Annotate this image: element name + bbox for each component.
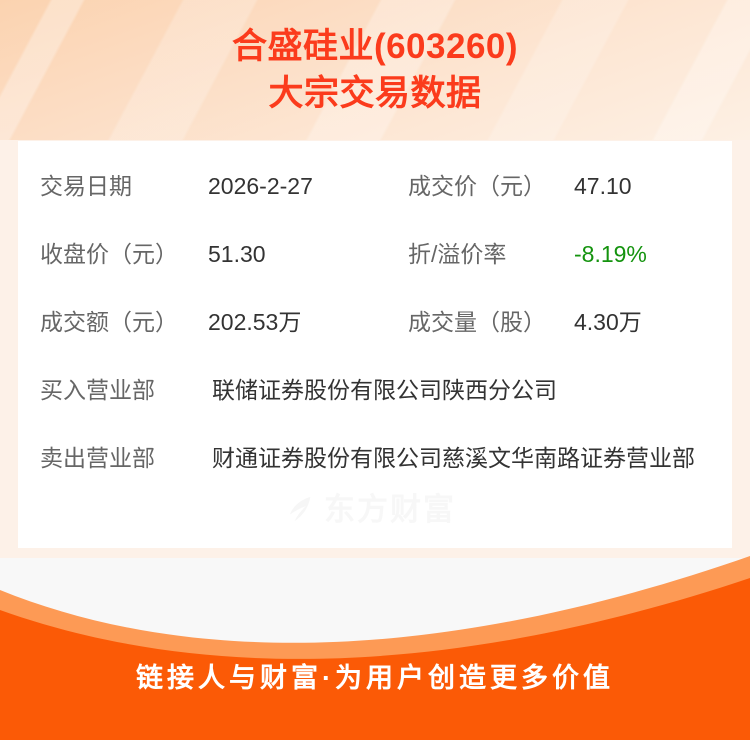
label-seller-branch: 卖出营业部 [40, 439, 212, 477]
footer-slogan: 链接人与财富·为用户创造更多价值 [0, 660, 750, 696]
label-trade-price: 成交价（元） [408, 167, 574, 205]
value-buyer-branch: 联储证券股份有限公司陕西分公司 [212, 371, 557, 409]
data-card: 东方财富 交易日期 2026-2-27 成交价（元） 47.10 收盘价（元） … [18, 141, 732, 548]
label-turnover-amount: 成交额（元） [40, 303, 208, 341]
data-rows: 交易日期 2026-2-27 成交价（元） 47.10 收盘价（元） 51.30… [18, 141, 732, 477]
swirl-logo-icon [286, 494, 316, 524]
label-turnover-volume: 成交量（股） [408, 303, 574, 341]
value-turnover-volume: 4.30万 [574, 303, 642, 341]
watermark-text: 东方财富 [324, 494, 456, 525]
table-row: 收盘价（元） 51.30 折/溢价率 -8.19% [18, 235, 732, 273]
value-turnover-amount: 202.53万 [208, 303, 408, 341]
header-title-block: 合盛硅业(603260) 大宗交易数据 [0, 0, 750, 140]
value-trade-date: 2026-2-27 [208, 167, 408, 205]
table-row: 卖出营业部 财通证券股份有限公司慈溪文华南路证券营业部 [18, 439, 732, 477]
label-trade-date: 交易日期 [40, 167, 208, 205]
table-row: 买入营业部 联储证券股份有限公司陕西分公司 [18, 371, 732, 409]
label-premium-rate: 折/溢价率 [408, 235, 574, 273]
poster-root: 合盛硅业(603260) 大宗交易数据 东方财富 交易日期 2026-2-27 … [0, 0, 750, 740]
header-banner: 合盛硅业(603260) 大宗交易数据 [0, 0, 750, 140]
page-title-line1: 合盛硅业(603260) [232, 23, 518, 70]
page-title-line2: 大宗交易数据 [268, 70, 481, 117]
table-row: 成交额（元） 202.53万 成交量（股） 4.30万 [18, 303, 732, 341]
table-row: 交易日期 2026-2-27 成交价（元） 47.10 [18, 167, 732, 205]
footer-wave-graphic [0, 548, 750, 740]
value-trade-price: 47.10 [574, 167, 632, 205]
label-buyer-branch: 买入营业部 [40, 371, 212, 409]
label-close-price: 收盘价（元） [40, 235, 208, 273]
value-close-price: 51.30 [208, 235, 408, 273]
value-premium-rate: -8.19% [574, 235, 647, 273]
value-seller-branch: 财通证券股份有限公司慈溪文华南路证券营业部 [212, 439, 695, 477]
watermark: 东方财富 [286, 486, 496, 532]
